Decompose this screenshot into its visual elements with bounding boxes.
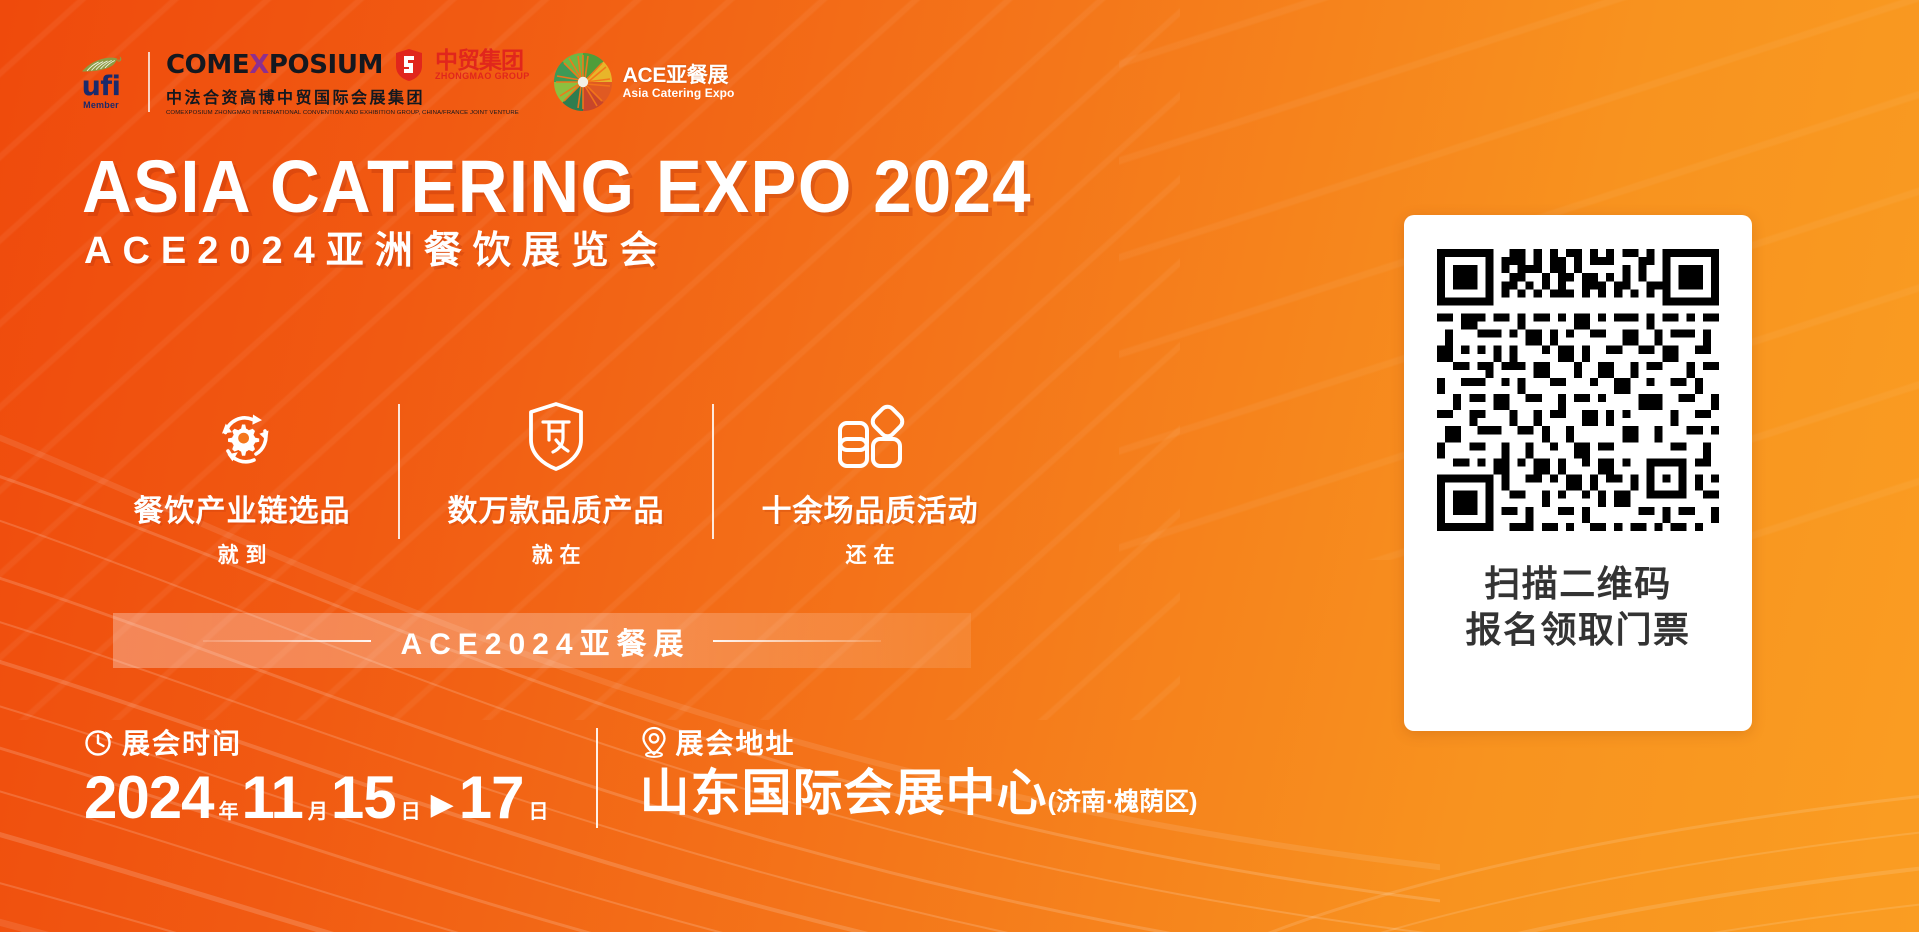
strip-rule-left	[203, 640, 371, 642]
feature-subtitle: 还在	[839, 539, 902, 569]
feature-item: 十余场品质活动 还在	[714, 400, 1026, 569]
venue-value: 山东国际会展中心 (济南·槐荫区)	[640, 768, 1198, 818]
ufi-wordmark: ufi	[82, 76, 121, 99]
qr-caption-line-2: 报名领取门票	[1465, 607, 1690, 653]
ace-cn-label: ACE亚餐展	[623, 65, 735, 87]
quality-shield-icon	[525, 400, 587, 472]
comexposium-en-line: COMEXPOSIUM ZHONGMAO INTERNATIONAL CONVE…	[166, 110, 530, 116]
date-month-unit: 月	[308, 795, 328, 824]
ufi-logo: ufi Member	[70, 54, 132, 110]
sub-title: ACE2024亚洲餐饮展览会	[84, 232, 669, 270]
date-year-unit: 年	[218, 795, 238, 824]
date-day-start-unit: 日	[401, 795, 421, 824]
comexposium-zhongmao-logo: COMEXPOSIUM 中贸集团 ZHONGMAO GROUP 中法合资高博中贸…	[166, 48, 530, 116]
event-venue-block: 展会地址 山东国际会展中心 (济南·槐荫区)	[640, 722, 1198, 818]
feature-item: 数万款品质产品 就在	[400, 400, 712, 569]
feature-list: 餐饮产业链选品 就到 数万款品质产品 就在	[86, 400, 1026, 569]
info-separator	[596, 728, 598, 828]
venue-district: (济南·槐荫区)	[1048, 782, 1198, 818]
date-value: 2024 年 11 月 15 日 ▶ 17 日	[84, 768, 552, 828]
feature-subtitle: 就在	[525, 539, 588, 569]
highlight-strip: ACE2024亚餐展	[113, 613, 971, 668]
feature-item: 餐饮产业链选品 就到	[86, 400, 398, 569]
venue-name: 山东国际会展中心	[640, 768, 1048, 818]
date-day-end-unit: 日	[529, 795, 549, 824]
comexposium-wordmark: COMEXPOSIUM	[166, 50, 383, 80]
venue-label: 展会地址	[676, 722, 796, 762]
sponsor-logo-bar: ufi Member COMEXPOSIUM 中贸集团 ZHONGMAO GRO…	[70, 44, 734, 120]
event-info-row: 展会时间 2024 年 11 月 15 日 ▶ 17 日	[84, 722, 1197, 828]
ace-en-label: Asia Catering Expo	[623, 87, 735, 100]
logo-divider	[148, 52, 150, 112]
qr-registration-card[interactable]: 扫描二维码 报名领取门票	[1404, 215, 1752, 731]
date-month: 11	[241, 768, 302, 828]
date-year: 2024	[84, 768, 213, 828]
qr-caption-line-1: 扫描二维码	[1465, 561, 1690, 607]
date-day-start: 15	[331, 768, 396, 828]
ace-expo-logo: ACE亚餐展 Asia Catering Expo	[552, 51, 735, 113]
date-day-end: 17	[459, 768, 524, 828]
main-title: ASIA CATERING EXPO 2024	[82, 150, 1032, 224]
zhongmao-mark-icon	[393, 48, 425, 82]
feature-title: 数万款品质产品	[448, 486, 665, 530]
strip-rule-right	[713, 640, 881, 642]
zhongmao-en-label: ZHONGMAO GROUP	[435, 72, 530, 81]
strip-text: ACE2024亚餐展	[393, 619, 690, 663]
qr-code-icon[interactable]	[1429, 241, 1727, 539]
grid-activities-icon	[834, 400, 906, 472]
comexposium-cn-line: 中法合资高博中贸国际会展集团	[166, 84, 530, 108]
clock-icon	[84, 727, 114, 757]
promo-banner: ufi Member COMEXPOSIUM 中贸集团 ZHONGMAO GRO…	[0, 0, 1919, 932]
feature-title: 餐饮产业链选品	[134, 486, 351, 530]
date-label: 展会时间	[122, 722, 242, 762]
zhongmao-cn-label: 中贸集团	[435, 49, 530, 72]
qr-caption: 扫描二维码 报名领取门票	[1465, 561, 1690, 653]
feature-subtitle: 就到	[211, 539, 274, 569]
ace-pinwheel-icon	[552, 51, 614, 113]
location-pin-icon	[640, 726, 668, 758]
gear-cycle-icon	[208, 400, 276, 472]
event-date-block: 展会时间 2024 年 11 月 15 日 ▶ 17 日	[84, 722, 552, 828]
date-range-arrow-icon: ▶	[431, 790, 454, 820]
ufi-member-label: Member	[83, 100, 119, 110]
feature-title: 十余场品质活动	[762, 486, 979, 530]
